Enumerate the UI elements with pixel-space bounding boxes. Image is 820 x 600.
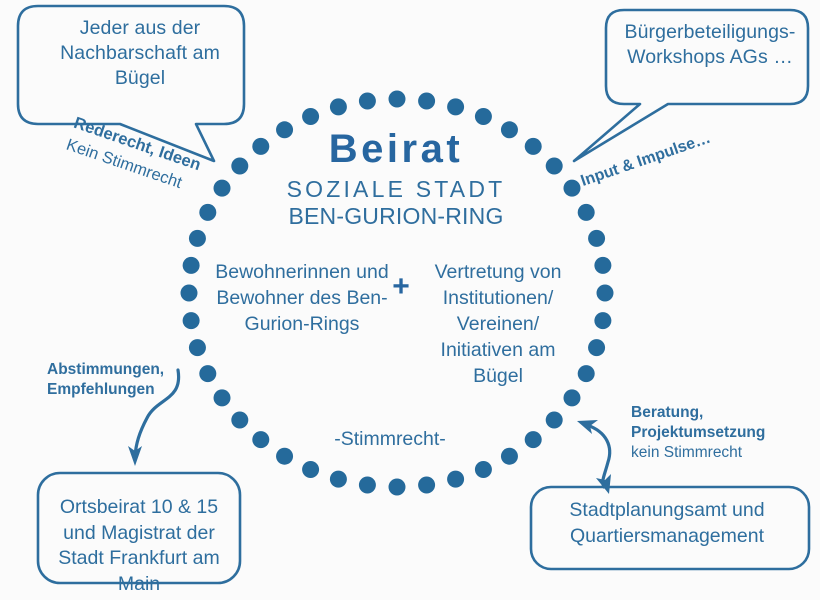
label-rederecht-ideen: Rederecht, Ideen Kein Stimmrecht [63, 112, 204, 199]
ring-dot [563, 180, 580, 197]
center-voting-note: -Stimmrecht- [300, 428, 480, 451]
label-input-impulse: Input & Impulse… [578, 128, 713, 192]
ring-dot [447, 471, 464, 488]
ring-dot [276, 448, 293, 465]
label-abstimmungen-empfehlungen: Abstimmungen, Empfehlungen [47, 360, 164, 400]
label-beratung-line2: Projektumsetzung [631, 423, 765, 443]
ring-dot [302, 461, 319, 478]
ring-dot [597, 285, 614, 302]
label-input-impulse-bold: Input & Impulse… [578, 128, 713, 192]
label-beratung-line1: Beratung, [631, 403, 765, 423]
diagram-canvas: Jeder aus der Nachbarschaft am Bügel Bür… [0, 0, 820, 600]
ring-dot [199, 365, 216, 382]
ring-dot [359, 92, 376, 109]
center-column-right: Vertretung von Institutionen/ Vereinen/ … [418, 259, 578, 389]
label-beratung-projektumsetzung: Beratung, Projektumsetzung kein Stimmrec… [631, 403, 765, 463]
ring-dot [546, 412, 563, 429]
ring-dot [359, 477, 376, 494]
ring-dot [475, 461, 492, 478]
label-beratung-line3: kein Stimmrecht [631, 443, 765, 463]
ring-dot [183, 312, 200, 329]
ring-dot [389, 91, 406, 108]
bubble-top-left-text: Jeder aus der Nachbarschaft am Bügel [40, 16, 240, 91]
ring-dot [594, 312, 611, 329]
box-bottom-left-text: Ortsbeirat 10 & 15 und Magistrat der Sta… [44, 495, 234, 597]
arrow-right-double [577, 420, 611, 494]
center-subtitle-2: BEN-GURION-RING [246, 203, 546, 229]
ring-dot [418, 92, 435, 109]
ring-dot [231, 412, 248, 429]
plus-icon: + [386, 272, 416, 302]
bubble-top-right-text: Bürgerbeteiligungs- Workshops AGs … [612, 20, 808, 70]
ring-dot [594, 257, 611, 274]
label-abstimmungen-line1: Abstimmungen, [47, 360, 164, 380]
ring-dot [389, 479, 406, 496]
ring-dot [588, 230, 605, 247]
ring-dot [214, 180, 231, 197]
center-column-left: Bewohnerinnen und Bewohner des Ben-Gurio… [214, 259, 390, 337]
ring-dot [214, 389, 231, 406]
ring-dot [588, 339, 605, 356]
ring-dot [189, 339, 206, 356]
label-abstimmungen-line2: Empfehlungen [47, 380, 164, 400]
ring-dot [330, 471, 347, 488]
ring-dot [546, 157, 563, 174]
ring-dot [475, 108, 492, 125]
ring-dot [578, 204, 595, 221]
ring-dot [199, 204, 216, 221]
ring-dot [252, 431, 269, 448]
ring-dot [447, 98, 464, 115]
center-subtitle-1: SOZIALE STADT [246, 176, 546, 202]
ring-dot [418, 477, 435, 494]
ring-dot [330, 98, 347, 115]
ring-dot [183, 257, 200, 274]
center-title: Beirat [246, 127, 546, 171]
ring-dot [501, 448, 518, 465]
ring-dot [181, 285, 198, 302]
ring-dot [189, 230, 206, 247]
ring-dot [302, 108, 319, 125]
ring-dot [563, 389, 580, 406]
box-bottom-right-text: Stadtplanungsamt und Quartiersmanagement [536, 498, 798, 549]
ring-dot [578, 365, 595, 382]
ring-dot [525, 431, 542, 448]
